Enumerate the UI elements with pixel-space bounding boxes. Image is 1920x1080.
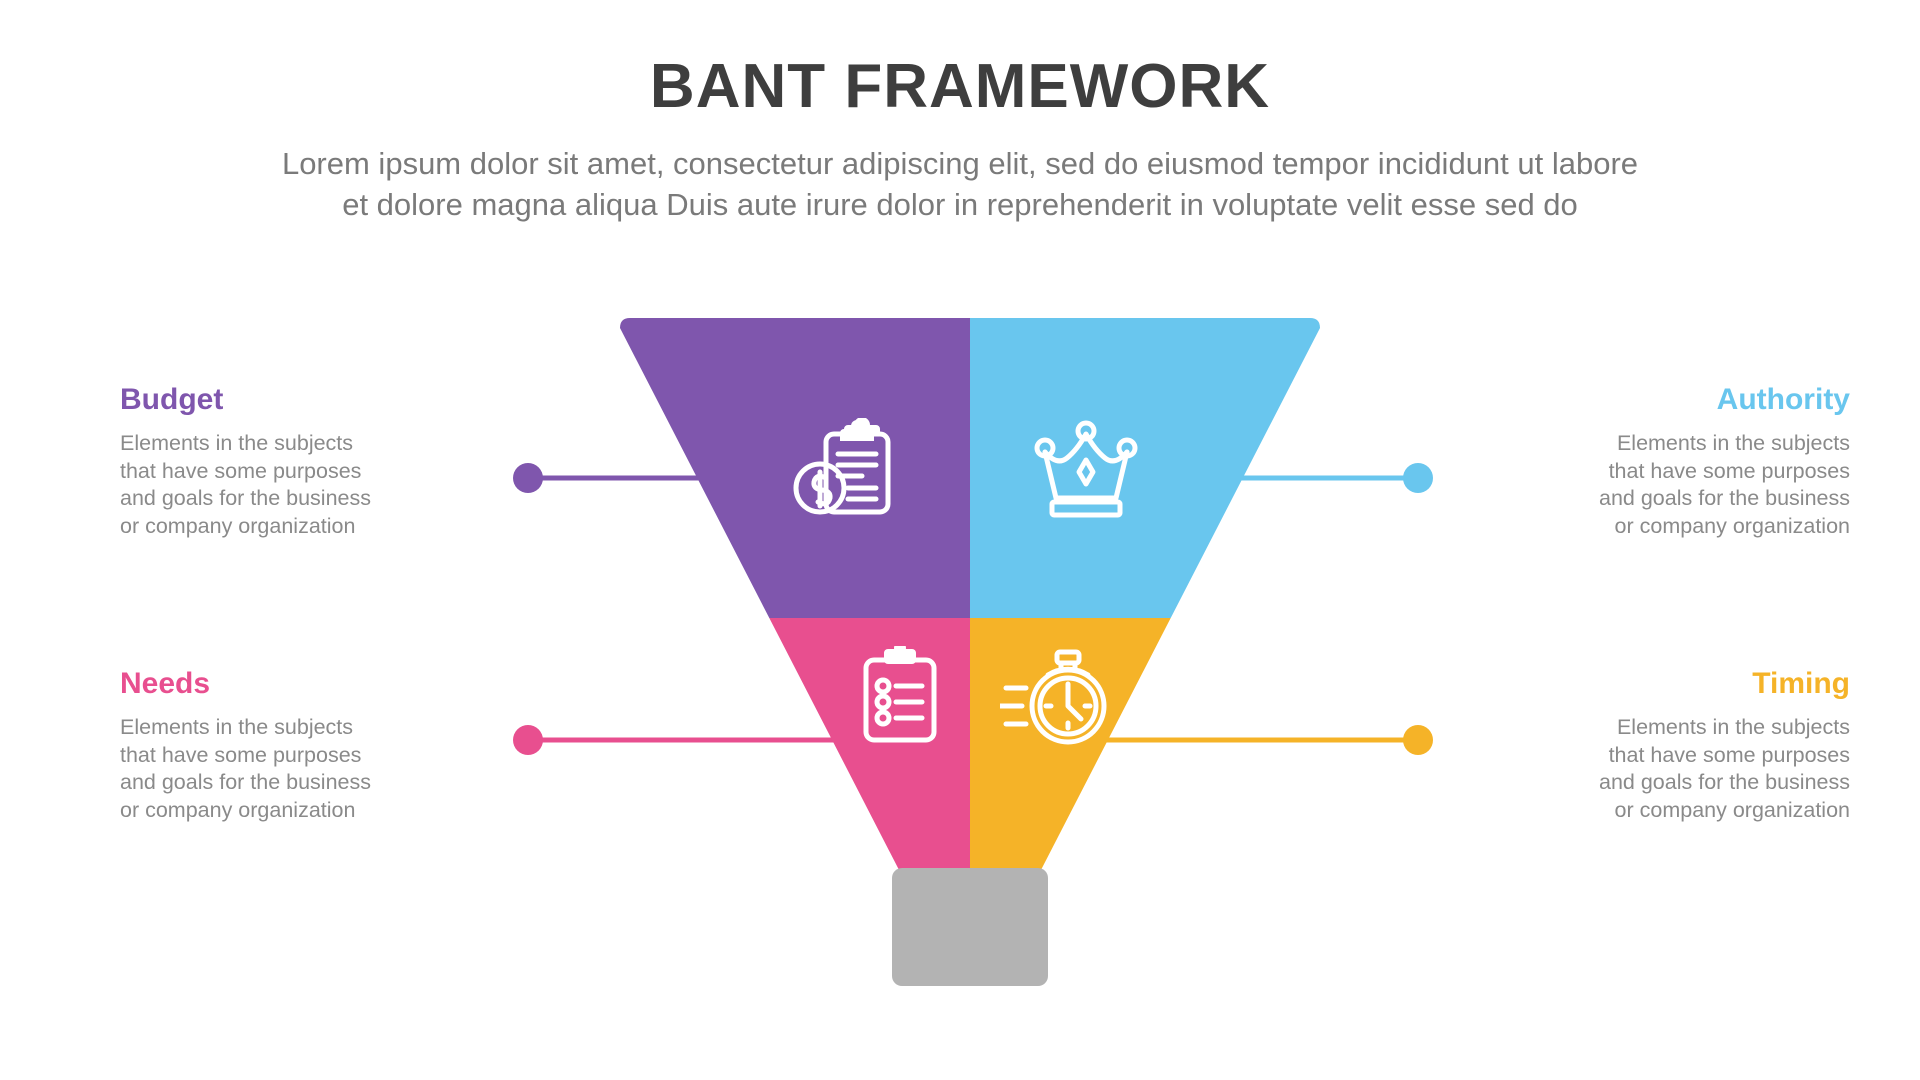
info-heading-budget: Budget — [120, 383, 450, 416]
info-body-line: that have some purposes — [120, 742, 450, 770]
info-body-line: Elements in the subjects — [1520, 714, 1850, 742]
info-heading-authority: Authority — [1520, 383, 1850, 416]
info-body-needs: Elements in the subjects that have some … — [120, 714, 450, 825]
info-body-line: and goals for the business — [1520, 485, 1850, 513]
infographic-canvas: BANT FRAMEWORK Lorem ipsum dolor sit ame… — [0, 0, 1920, 1080]
info-body-line: that have some purposes — [1520, 458, 1850, 486]
funnel-diagram — [620, 318, 1320, 1008]
info-heading-needs: Needs — [120, 667, 450, 700]
info-block-needs: Needs Elements in the subjects that have… — [120, 667, 450, 825]
info-body-line: and goals for the business — [120, 769, 450, 797]
info-body-line: or company organization — [120, 513, 450, 541]
clipboard-checklist-icon — [858, 646, 942, 744]
funnel-stem-body — [892, 868, 1048, 986]
info-heading-timing: Timing — [1520, 667, 1850, 700]
info-block-authority: Authority Elements in the subjects that … — [1520, 383, 1850, 541]
info-body-line: Elements in the subjects — [120, 714, 450, 742]
funnel-segment-authority — [970, 318, 1320, 618]
info-body-line: and goals for the business — [1520, 769, 1850, 797]
clipboard-dollar-icon — [792, 418, 902, 518]
info-body-timing: Elements in the subjects that have some … — [1520, 714, 1850, 825]
info-body-authority: Elements in the subjects that have some … — [1520, 430, 1850, 541]
info-body-line: that have some purposes — [1520, 742, 1850, 770]
info-block-timing: Timing Elements in the subjects that hav… — [1520, 667, 1850, 825]
info-body-line: Elements in the subjects — [1520, 430, 1850, 458]
info-block-budget: Budget Elements in the subjects that hav… — [120, 383, 450, 541]
info-body-line: and goals for the business — [120, 485, 450, 513]
crown-icon — [1032, 418, 1140, 518]
info-body-line: Elements in the subjects — [120, 430, 450, 458]
info-body-line: that have some purposes — [120, 458, 450, 486]
info-body-line: or company organization — [120, 797, 450, 825]
info-body-budget: Elements in the subjects that have some … — [120, 430, 450, 541]
stopwatch-icon — [1000, 648, 1112, 746]
info-body-line: or company organization — [1520, 797, 1850, 825]
info-body-line: or company organization — [1520, 513, 1850, 541]
